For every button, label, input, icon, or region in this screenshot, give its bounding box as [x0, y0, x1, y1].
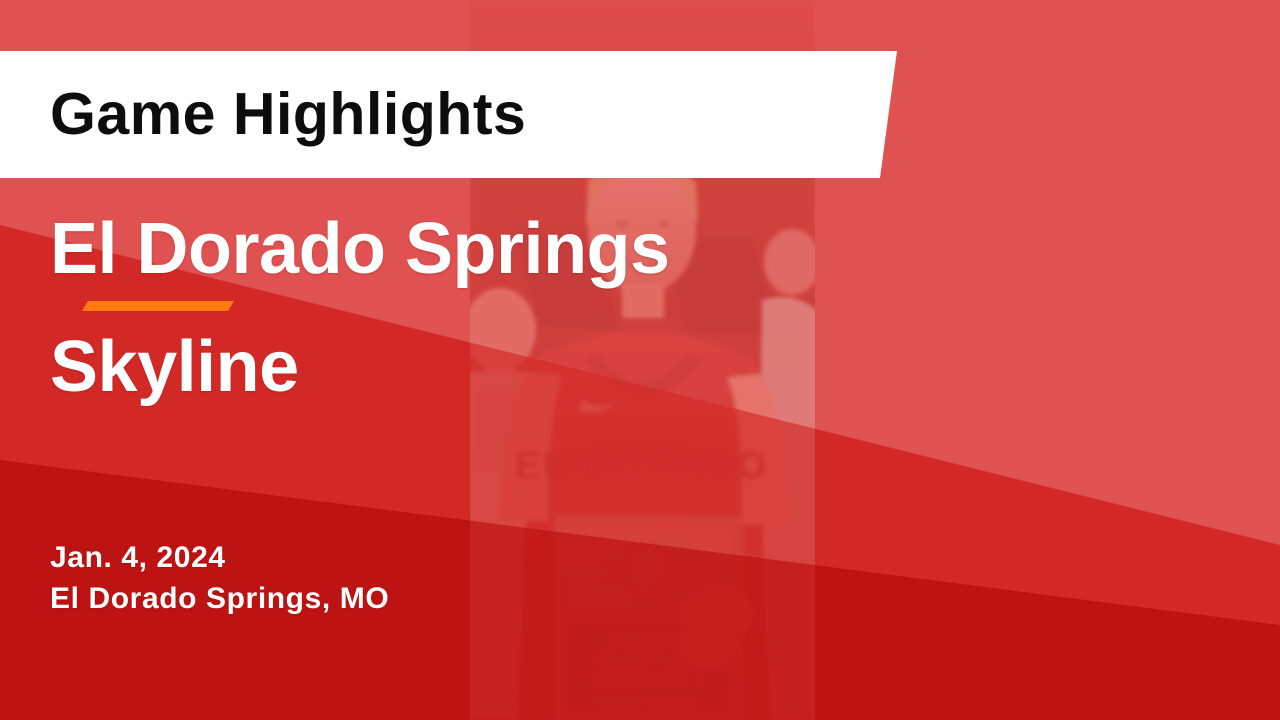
- svg-text:FIRST PLACE: FIRST PLACE: [598, 694, 700, 709]
- game-highlights-banner: Game Highlights: [0, 51, 900, 178]
- game-meta: Jan. 4, 2024 El Dorado Springs, MO: [50, 537, 389, 620]
- divider-wrapper: [50, 285, 1050, 327]
- accent-divider: [82, 301, 234, 311]
- game-location: El Dorado Springs, MO: [50, 578, 389, 619]
- svg-text:EL DORADO: EL DORADO: [515, 445, 769, 487]
- matchup-block: El Dorado Springs Skyline: [50, 213, 1050, 403]
- banner-title: Game Highlights: [50, 85, 526, 144]
- svg-text:22: 22: [680, 558, 710, 591]
- highlight-card: EL DORADO 20 22 DISTRICT BASKETBALL BOYS…: [0, 0, 1280, 720]
- home-team-name: El Dorado Springs: [50, 213, 1050, 285]
- game-date: Jan. 4, 2024: [50, 537, 389, 578]
- svg-text:BOYS CLASS 2: BOYS CLASS 2: [593, 672, 705, 687]
- svg-text:DISTRICT: DISTRICT: [612, 632, 687, 647]
- away-team-name: Skyline: [50, 331, 1050, 403]
